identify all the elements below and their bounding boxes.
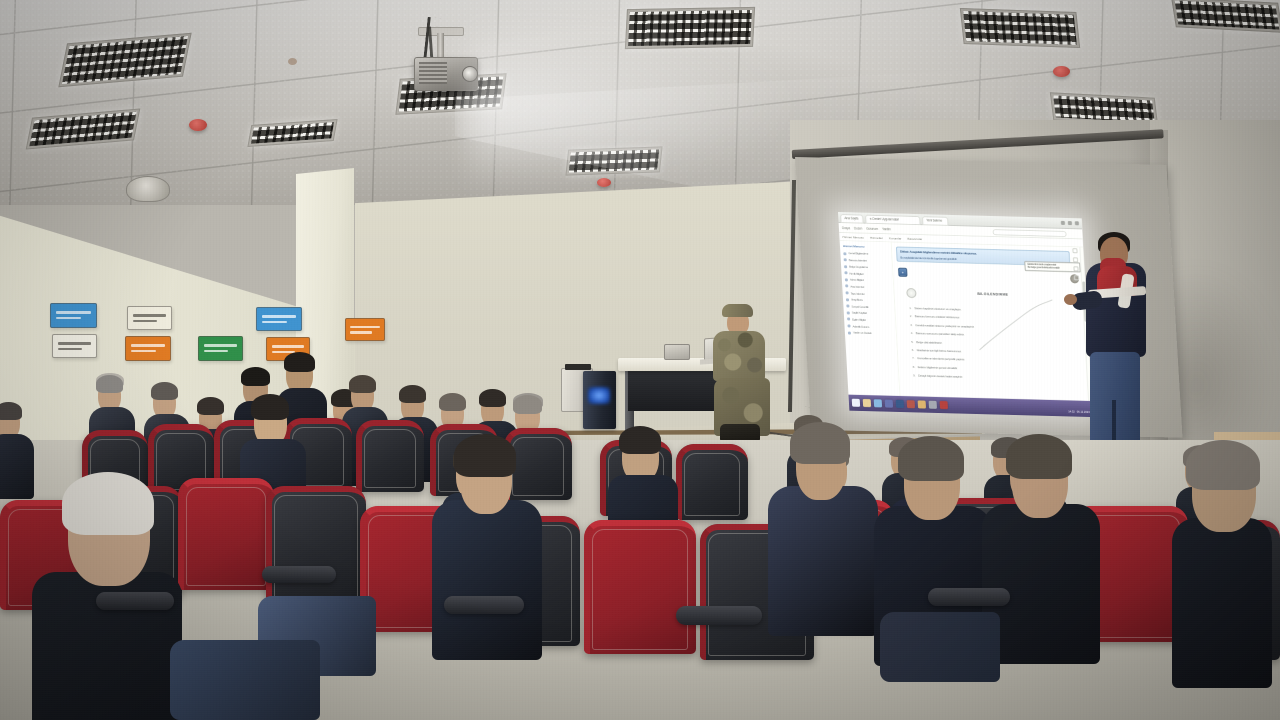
system-tray[interactable]: 14:32 06.12.2023 (1068, 412, 1090, 415)
list-item-text: Guncelleme islemlerini periyodik yapiniz… (917, 357, 965, 362)
sidebar-bullet-icon (844, 272, 847, 275)
sidebar-item-label: Arac Islemleri (850, 284, 864, 288)
audience-hair (1006, 434, 1072, 479)
document-list: 1.Sistem kaydinizi olusturun ve onaylayi… (909, 306, 1069, 386)
grid-light (565, 146, 662, 175)
seat-armrest[interactable] (676, 606, 762, 625)
audience-hair (0, 402, 22, 420)
list-item-text: Sistem kaydinizi olusturun ve onaylayin. (914, 306, 961, 311)
mail-icon[interactable] (885, 400, 893, 408)
audience-hair (790, 422, 850, 464)
maximize-icon[interactable] (1068, 221, 1072, 225)
tooltip-line: Bu belge guvenli elektronik imzalidir (1028, 266, 1078, 270)
zoom-in-icon[interactable] (1073, 266, 1078, 271)
wall-placard (127, 306, 172, 330)
list-item-number: 9. (913, 373, 916, 377)
document-list-item: 7.Guncelleme islemlerini periyodik yapin… (912, 357, 1068, 365)
list-item-number: 7. (912, 357, 915, 361)
sidebar-item-label: Belge Dogrulama (849, 265, 868, 270)
sidebar-item-label: Genel Bilgilendirme (848, 251, 869, 256)
browser-tab-label: Yeni Sekme (926, 218, 942, 222)
audience-torso (768, 486, 878, 636)
audience-hair (619, 426, 661, 454)
list-item-text: Belge cikti alabilirsiniz. (916, 340, 942, 345)
placard-text-lines (350, 323, 380, 336)
add-action-button[interactable]: + (898, 268, 908, 277)
list-item-text: Detayli bilgi icin destek hattini arayin… (918, 373, 963, 378)
sidebar-item-label: Basvuru Islemleri (849, 258, 867, 262)
sidebar-bullet-icon (843, 252, 846, 255)
audience-hair (197, 397, 224, 415)
grid-light (960, 8, 1080, 48)
seat-armrest[interactable] (444, 596, 524, 614)
auditorium-scene: Ana Sayfae-Devlet UygulamalariYeni Sekme… (0, 0, 1280, 720)
audience-torso (0, 434, 34, 499)
sidebar-item[interactable]: Yardim ve Destek (848, 331, 894, 336)
menubar-item[interactable]: Kurumlar (889, 236, 902, 240)
media-icon[interactable] (907, 400, 915, 408)
browser-tab[interactable]: Ana Sayfa (840, 214, 864, 224)
sidebar-item-label: Sosyal Guvenlik (851, 304, 868, 308)
desktop-pc-tower (583, 371, 616, 429)
projector-vent (419, 62, 447, 84)
sidebar-item-label: Egitim Bilgileri (852, 317, 866, 321)
toolbar-label[interactable]: Duzen (854, 226, 862, 230)
menubar-item[interactable]: Hizmetler (870, 235, 883, 239)
sidebar-item[interactable]: Sosyal Guvenlik (846, 304, 892, 309)
wall-placard (125, 336, 171, 361)
browser-icon[interactable] (874, 399, 882, 407)
seat[interactable] (178, 478, 274, 590)
taskbar-clock: 14:32 (1068, 412, 1075, 415)
seat-stitch-line (364, 429, 416, 488)
menubar-item[interactable]: Basvurular (907, 236, 922, 240)
menubar-item[interactable]: Hizmet Menusu (842, 235, 864, 240)
officer-cap (722, 304, 753, 317)
sidebar-title: Hizmet Menusu (843, 244, 889, 249)
sidebar-item[interactable]: Genel Bilgilendirme (843, 251, 889, 256)
sidebar-item[interactable]: Vergi Borcu (846, 298, 892, 303)
sidebar-item-label: Vergi Borcu (851, 298, 863, 302)
folder-icon[interactable] (918, 400, 926, 408)
seat-stitch-line (274, 495, 358, 600)
audience-hair (284, 352, 315, 372)
sidebar-item-label: Kimlik Bilgileri (849, 271, 863, 275)
sidebar-item[interactable]: Kimlik Bilgileri (844, 271, 890, 276)
sidebar-item[interactable]: Askerlik Durumu (847, 324, 893, 329)
list-item-text: Itirazlariniz icin ilgili birime basvuru… (917, 348, 962, 353)
seat-armrest[interactable] (96, 592, 174, 610)
toolbar-label[interactable]: Gorunum (866, 226, 878, 230)
grid-light (1171, 0, 1280, 33)
audience-hair (1186, 440, 1260, 490)
seat[interactable] (266, 486, 366, 604)
list-item-number: 2. (910, 314, 913, 318)
pc-power-glow-icon (588, 387, 610, 404)
placard-text-lines (204, 342, 238, 356)
sidebar-item-label: Askerlik Durumu (852, 324, 870, 328)
projector-lens-icon (462, 66, 478, 82)
document-list-item: 9.Detayli bilgi icin destek hattini aray… (913, 373, 1069, 381)
list-item-text: Gerekli evraklari sisteme yukleyiniz ve … (915, 323, 975, 329)
audience-hair (399, 385, 426, 403)
download-icon[interactable] (1073, 257, 1078, 262)
wall-placard (345, 318, 385, 341)
toolbar-label[interactable]: Dosya (842, 226, 850, 230)
smoke-detector-icon (597, 178, 611, 187)
placard-text-lines (56, 309, 91, 323)
word-icon[interactable] (896, 400, 904, 408)
seat-stitch-line (512, 437, 564, 496)
seat[interactable] (584, 520, 696, 654)
seat-stitch-line (684, 453, 740, 516)
audience-hair (479, 389, 506, 407)
audience-hair (454, 434, 516, 477)
sidebar-bullet-icon (848, 331, 851, 334)
small-monitor (664, 344, 690, 360)
audience-hair (513, 395, 542, 414)
sidebar-item-label: Tapu Islemleri (851, 291, 866, 295)
sidebar-bullet-icon (847, 324, 850, 327)
list-item-number: 3. (910, 323, 913, 327)
seat[interactable] (356, 420, 424, 492)
audience-hair (349, 375, 376, 393)
minimize-icon[interactable] (1061, 220, 1065, 224)
document-list-item: 3.Gerekli evraklari sisteme yukleyiniz v… (910, 323, 1066, 331)
print-icon[interactable] (1072, 248, 1077, 253)
sidebar-bullet-icon (844, 258, 847, 261)
audience-hair (439, 393, 466, 411)
audience-hair (151, 382, 178, 400)
audience-torso (1172, 518, 1272, 688)
sidebar-bullet-icon (847, 318, 850, 321)
sidebar-bullet-icon (845, 278, 848, 281)
placard-text-lines (262, 312, 296, 325)
sidebar-bullet-icon (846, 291, 849, 294)
audience-hair (241, 367, 270, 386)
smoke-detector-icon (189, 119, 207, 131)
page-sidebar: Hizmet Menusu Genel BilgilendirmeBasvuru… (840, 241, 901, 396)
settings-icon[interactable] (929, 401, 937, 409)
wall-placard (50, 303, 97, 328)
seat-armrest[interactable] (928, 588, 1010, 606)
seat-stitch-line (592, 529, 688, 650)
placard-text-lines (133, 311, 167, 324)
window-controls[interactable] (1061, 220, 1079, 224)
seat-armrest[interactable] (262, 566, 336, 583)
sidebar-item[interactable]: Tapu Islemleri (846, 291, 892, 296)
list-item-number: 4. (911, 331, 914, 335)
page-side-tools[interactable] (1072, 248, 1079, 280)
audience-hair (62, 472, 154, 535)
wall-speaker-icon (126, 176, 170, 202)
taskbar-date: 06.12.2023 (1077, 412, 1090, 415)
list-item-number: 1. (909, 306, 912, 310)
list-item-number: 6. (912, 348, 915, 352)
audience-hair (251, 394, 289, 420)
audience-hair (96, 375, 123, 393)
document-list-item: 6.Itirazlariniz icin ilgili birime basvu… (912, 348, 1068, 356)
audience-legs (880, 612, 1000, 682)
browser-tab-label: e-Devlet Uygulamalari (870, 217, 899, 222)
start-icon[interactable] (852, 399, 860, 407)
document-logo-icon (906, 288, 917, 298)
projected-browser-window: Ana Sayfae-Devlet UygulamalariYeni Sekme… (838, 212, 1093, 417)
placard-text-lines (131, 342, 165, 356)
list-item-number: 5. (911, 340, 914, 344)
sidebar-item[interactable]: Egitim Bilgileri (847, 317, 893, 322)
zoom-out-icon[interactable] (1074, 275, 1079, 280)
pdf-icon[interactable] (940, 401, 948, 409)
sidebar-bullet-icon (846, 298, 849, 301)
sidebar-item[interactable]: Adres Bilgileri (845, 278, 891, 283)
seat[interactable] (676, 444, 748, 520)
audience-legs (170, 640, 320, 720)
audience-hair (898, 436, 964, 481)
officer-torso-camouflage (713, 331, 765, 381)
document-title: BILGILENDIRME (977, 292, 1008, 297)
wall-placard (256, 307, 302, 331)
list-item-number: 8. (913, 365, 916, 369)
sidebar-item[interactable]: Arac Islemleri (845, 284, 891, 289)
list-item-text: Iletisim bilgileriniz guncel olmalidir. (918, 365, 958, 370)
document-list-item: 2.Basvuru formunu eksiksiz doldurunuz. (910, 314, 1066, 322)
list-item-text: Basvuru formunu eksiksiz doldurunuz. (915, 315, 960, 320)
sidebar-bullet-icon (846, 305, 849, 308)
sidebar-item[interactable]: Basvuru Islemleri (844, 258, 890, 263)
sidebar-bullet-icon (845, 285, 848, 288)
audience-torso (432, 500, 542, 660)
sidebar-item[interactable]: Belge Dogrulama (844, 264, 890, 269)
document-list-item: 5.Belge cikti alabilirsiniz. (911, 340, 1067, 348)
grid-light (625, 7, 755, 49)
list-item-text: Basvuru sonucunu panelden takip ediniz. (916, 331, 965, 336)
sidebar-bullet-icon (847, 311, 850, 314)
wall-placard (198, 336, 243, 361)
document-list-item: 8.Iletisim bilgileriniz guncel olmalidir… (913, 365, 1069, 373)
sidebar-item-label: Yardim ve Destek (853, 331, 872, 336)
presenter-hand (1064, 294, 1077, 305)
document-list-item: 4.Basvuru sonucunu panelden takip ediniz… (911, 331, 1067, 339)
smoke-detector-icon (1053, 66, 1070, 77)
seat-stitch-line (186, 487, 266, 586)
sidebar-item[interactable]: Saglik Kayitlari (847, 311, 893, 316)
browser-tab[interactable]: Yeni Sekme (922, 216, 948, 226)
explorer-icon[interactable] (863, 399, 871, 407)
sidebar-item-label: Adres Bilgileri (850, 278, 864, 282)
sidebar-bullet-icon (844, 265, 847, 268)
wall-placard (52, 334, 97, 358)
browser-tab-label: Ana Sayfa (844, 216, 858, 220)
sidebar-item-label: Saglik Kayitlari (852, 311, 867, 315)
toolbar-label[interactable]: Yardim (882, 227, 891, 231)
close-icon[interactable] (1075, 221, 1079, 225)
document-list-item: 1.Sistem kaydinizi olusturun ve onaylayi… (909, 306, 1065, 314)
ceiling-fitting-icon (288, 58, 297, 65)
placard-text-lines (58, 339, 92, 352)
